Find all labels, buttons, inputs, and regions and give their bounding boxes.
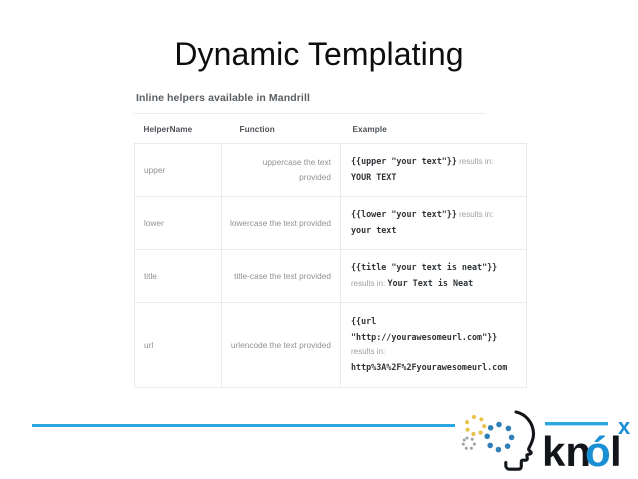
mandrill-helpers-card: Inline helpers available in Mandrill Hel… (118, 84, 500, 406)
wordmark-overbar (545, 422, 608, 425)
grey-gear-icon (462, 437, 476, 450)
gold-gear-icon (465, 415, 486, 436)
example-output: http%3A%2F%2Fyourawesomeurl.com (351, 360, 519, 376)
helper-function-cell: uppercase the text provided (222, 144, 341, 197)
wordmark-prefix: kn (542, 428, 591, 475)
helper-example-cell: {{url "http://yourawesomeurl.com"}} resu… (341, 303, 527, 388)
example-code: {{lower "your text"}} (351, 209, 457, 219)
column-header-example: Example (341, 114, 527, 144)
column-header-helpername: HelperName (135, 114, 222, 144)
example-code: {{upper "your text"}} (351, 156, 457, 166)
example-note: results in: (457, 157, 493, 166)
card-heading: Inline helpers available in Mandrill (118, 84, 500, 104)
footer-divider-rule (32, 424, 455, 427)
column-header-function: Function (222, 114, 341, 144)
knolx-logo: kn ó l x (452, 404, 638, 476)
table-row: lower lowercase the text provided {{lowe… (135, 197, 527, 250)
helper-name-cell: upper (135, 144, 222, 197)
example-output: YOUR TEXT (351, 170, 519, 186)
example-code-line-2: "http://yourawesomeurl.com"}} (351, 330, 519, 346)
table-row: upper uppercase the text provided {{uppe… (135, 144, 527, 197)
helper-example-cell: {{lower "your text"}} results in: your t… (341, 197, 527, 250)
head-profile-icon (506, 412, 534, 469)
helpers-table: HelperName Function Example upper upperc… (134, 114, 527, 388)
example-note: results in: (457, 210, 493, 219)
example-output: Your Text is Neat (387, 278, 473, 288)
table-header-row: HelperName Function Example (135, 114, 527, 144)
example-note: results in: (351, 345, 519, 360)
example-output: your text (351, 223, 519, 239)
helper-name-cell: lower (135, 197, 222, 250)
wordmark-accent: ó (585, 428, 611, 475)
helper-function-cell: lowercase the text provided (222, 197, 341, 250)
helper-function-cell: title-case the text provided (222, 250, 341, 303)
example-note: results in: (351, 279, 387, 288)
page-title: Dynamic Templating (0, 36, 638, 73)
helper-example-cell: {{title "your text is neat"}} results in… (341, 250, 527, 303)
helper-function-cell: urlencode the text provided (222, 303, 341, 388)
example-code-line-1: {{url (351, 314, 519, 330)
helper-name-cell: url (135, 303, 222, 388)
helper-example-cell: {{upper "your text"}} results in: YOUR T… (341, 144, 527, 197)
helper-name-cell: title (135, 250, 222, 303)
knolx-logo-svg: kn ó l x (452, 404, 638, 476)
blue-gear-icon (484, 422, 514, 453)
table-row: url urlencode the text provided {{url "h… (135, 303, 527, 388)
table-row: title title-case the text provided {{tit… (135, 250, 527, 303)
wordmark-superscript: x (618, 414, 631, 439)
example-code: {{title "your text is neat"}} (351, 260, 519, 276)
